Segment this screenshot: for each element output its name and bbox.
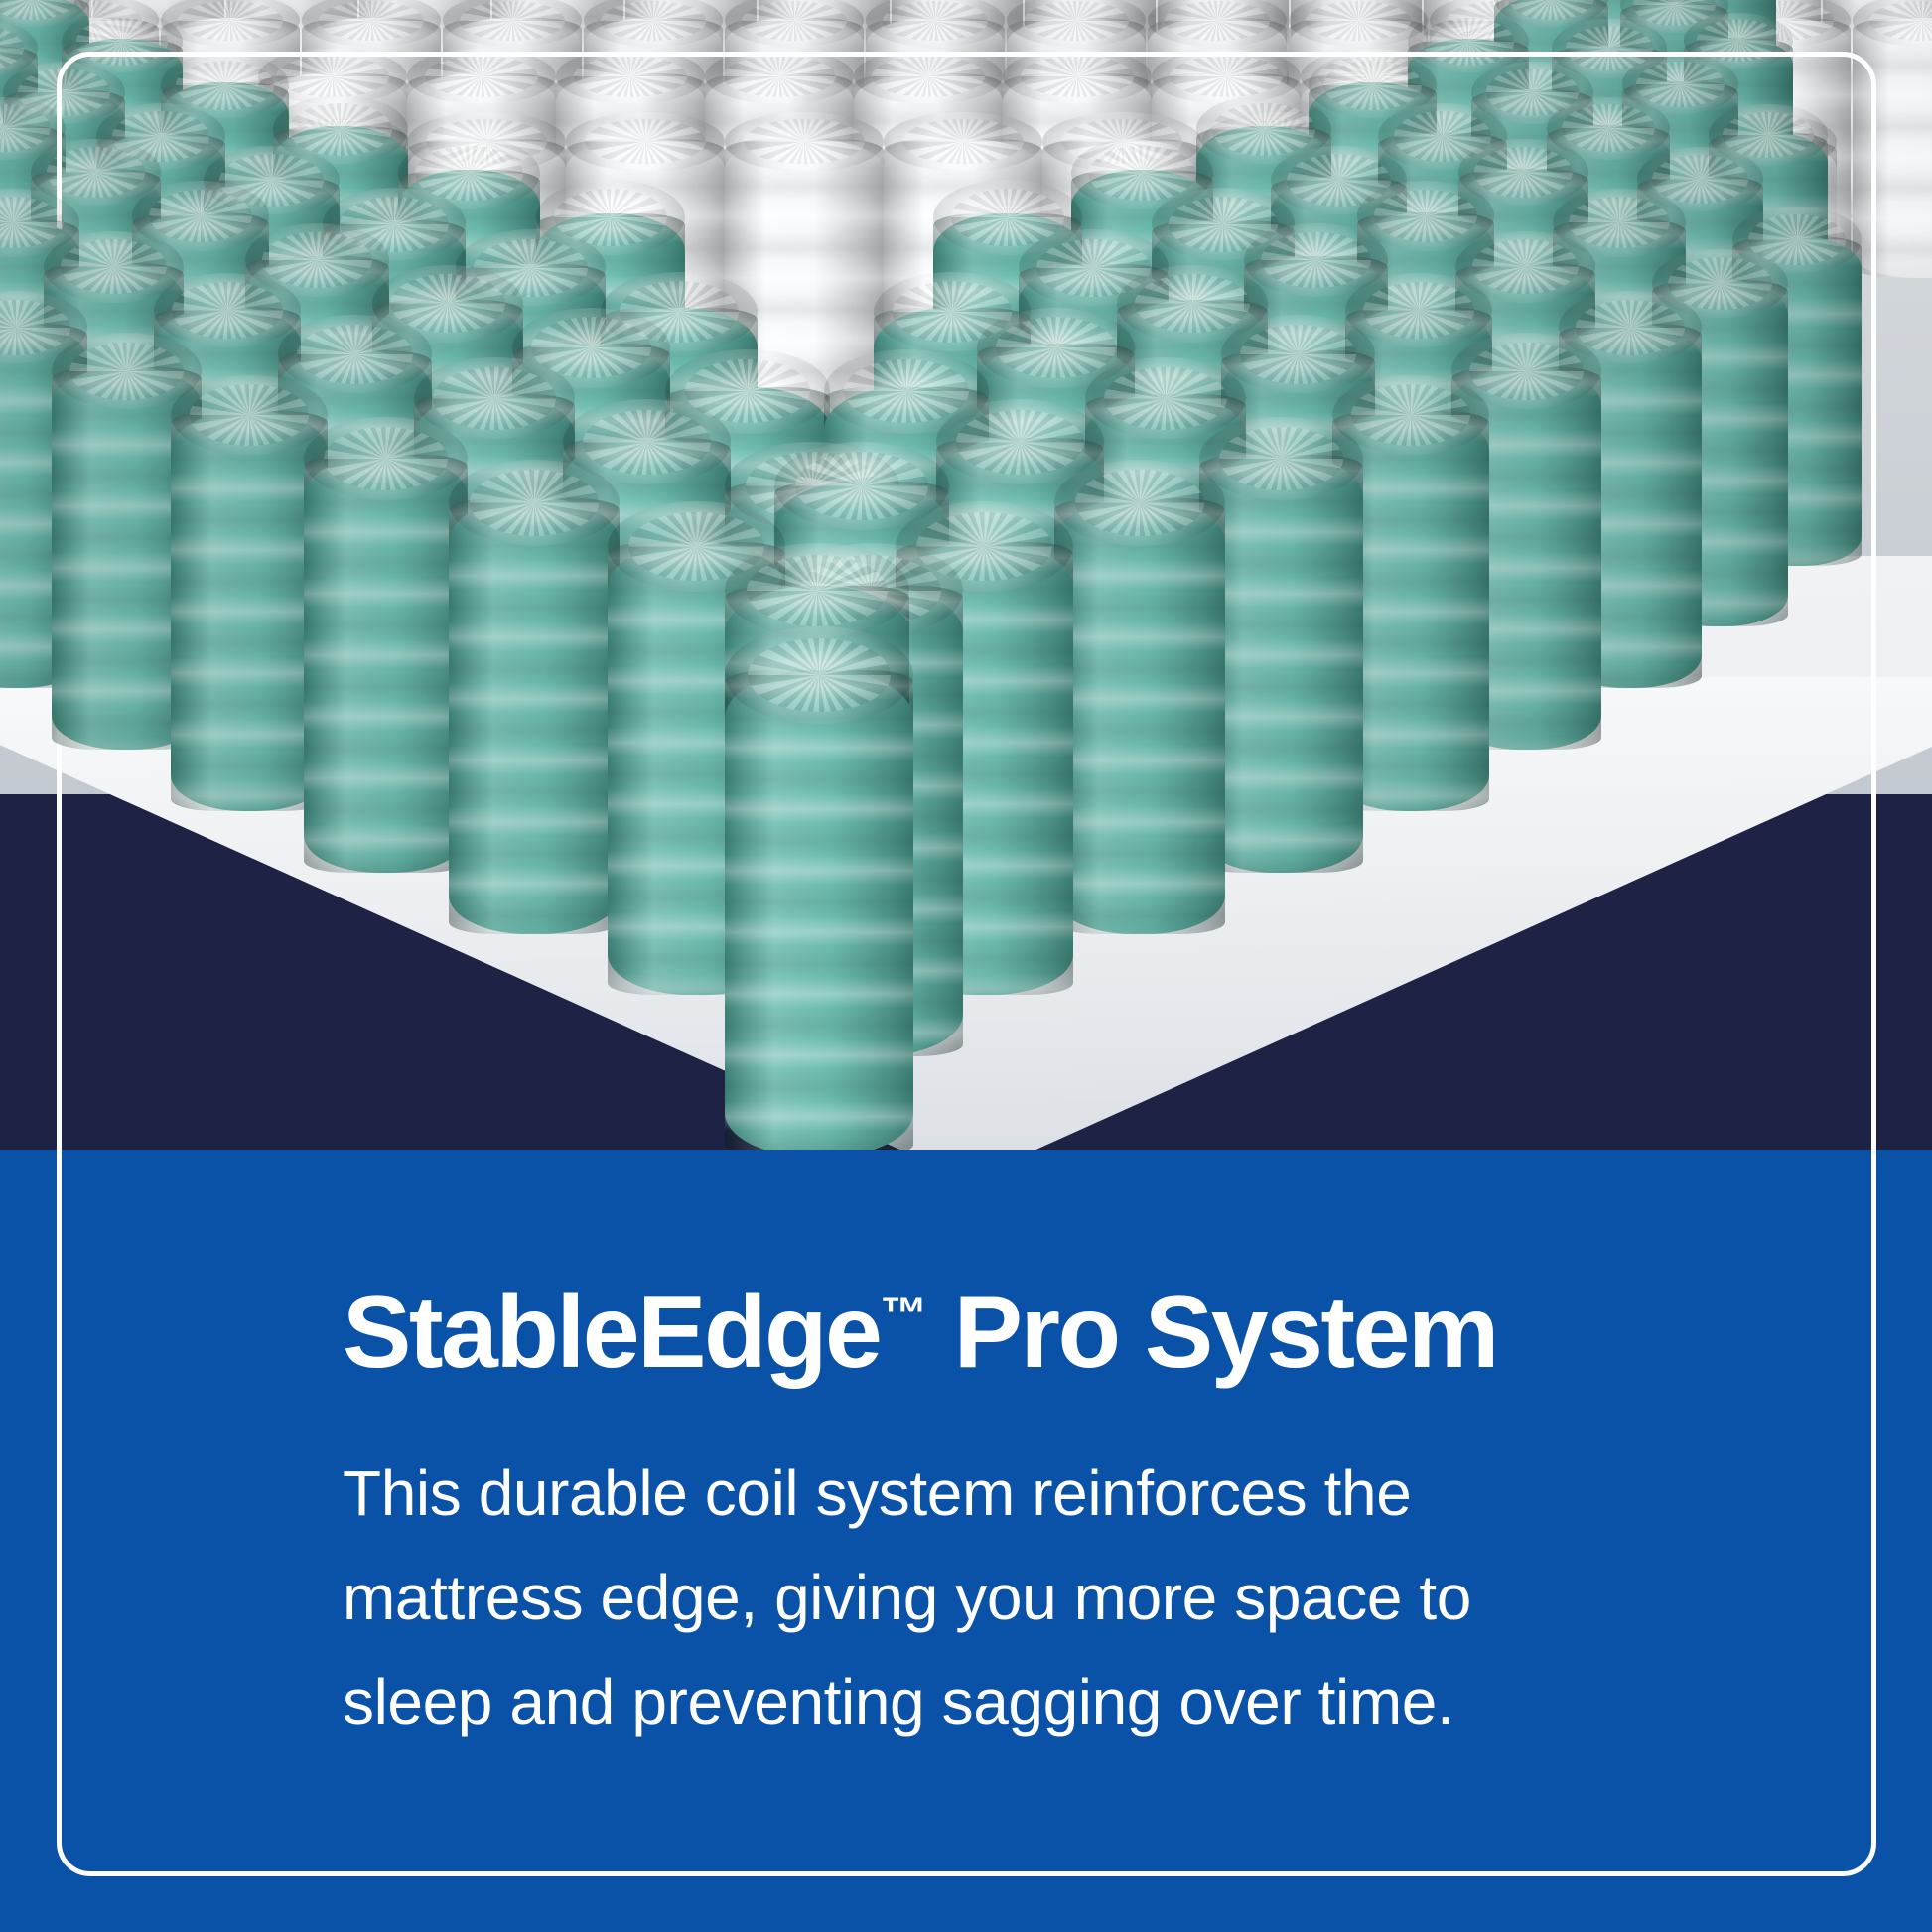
title-suffix: Pro System <box>927 1275 1497 1390</box>
coil-cap <box>884 112 1042 171</box>
coil-body <box>449 498 620 934</box>
coil-cap <box>171 375 328 456</box>
pocketed-coil-array <box>0 0 1932 1150</box>
coil-cap <box>705 49 854 104</box>
page-title: StableEdge™ Pro System <box>343 1281 1653 1384</box>
coil-cap <box>854 49 1003 104</box>
coil-cap <box>1221 315 1375 393</box>
teal-perimeter-coil <box>304 455 468 873</box>
white-inner-coil <box>1853 18 1932 278</box>
teal-perimeter-coil <box>725 670 913 1150</box>
coil-cap <box>304 417 468 500</box>
coil-cap <box>278 315 432 393</box>
coil-cap <box>1003 49 1152 104</box>
feature-card: StableEdge™ Pro System This durable coil… <box>0 0 1932 1932</box>
coil-cap <box>449 460 620 547</box>
trademark-icon: ™ <box>880 1289 927 1341</box>
coil-cap <box>154 273 301 347</box>
coil-cap <box>725 112 884 171</box>
coil-body <box>1054 498 1225 934</box>
coil-body <box>304 455 468 873</box>
coil-cap <box>1085 357 1246 440</box>
teal-perimeter-coil <box>449 498 620 934</box>
coil-cap <box>407 49 556 104</box>
coil-cap <box>725 543 909 637</box>
coil-cap <box>1199 417 1363 500</box>
coil-cap <box>1054 460 1225 547</box>
teal-perimeter-coil <box>1054 498 1225 934</box>
coil-cap <box>725 626 913 724</box>
description-panel-content: StableEdge™ Pro System This durable coil… <box>343 1281 1653 1754</box>
coil-body <box>1853 18 1932 278</box>
coil-cap <box>566 112 725 171</box>
description-text: This durable coil system reinforces the … <box>343 1442 1633 1754</box>
coil-cap <box>556 49 705 104</box>
coil-body <box>725 670 913 1150</box>
title-prefix: StableEdge <box>343 1275 880 1390</box>
description-panel: StableEdge™ Pro System This durable coil… <box>0 1150 1932 1932</box>
product-photo <box>0 0 1932 1150</box>
